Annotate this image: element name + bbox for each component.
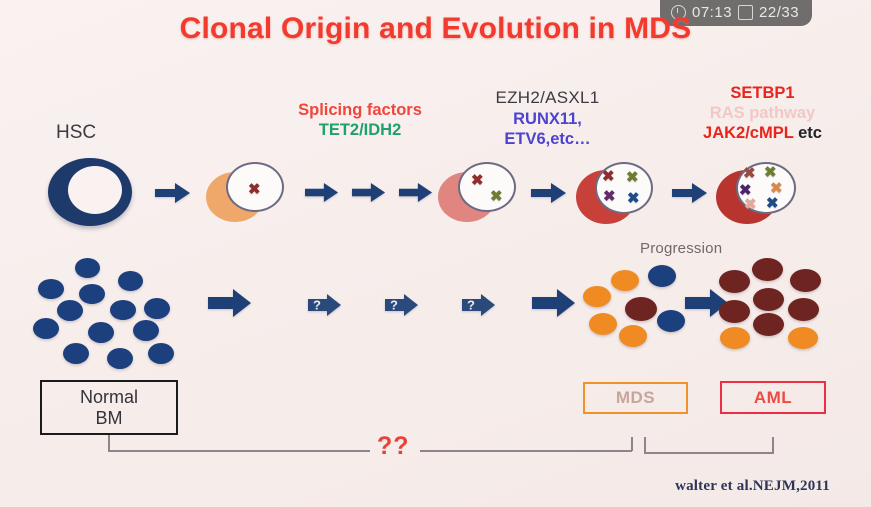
cell-dot (57, 300, 83, 321)
label-group-setbp1: SETBP1 RAS pathway JAK2/cMPL etc (660, 83, 865, 143)
mutation-mark: ✖ (490, 189, 503, 204)
cell-dot (611, 270, 639, 291)
cell-dot (788, 327, 818, 349)
cell-dot (720, 327, 750, 349)
slide-canvas: 07:13 22/33 Clonal Origin and Evolution … (0, 0, 871, 507)
cell-dot (75, 258, 100, 278)
label-jak2-line: JAK2/cMPL etc (660, 123, 865, 143)
label-splicing-factors: Splicing factors (265, 100, 455, 120)
cell-dot (589, 313, 617, 335)
question-annotation: ?? (377, 432, 410, 461)
label-group-splicing: Splicing factors TET2/IDH2 (265, 100, 455, 140)
box-mds[interactable]: MDS (583, 382, 688, 414)
progression-label: Progression (640, 240, 722, 257)
bracket-line-right (420, 450, 632, 452)
cell-dot (133, 320, 159, 341)
cell-dot (88, 322, 114, 343)
arrow-bottom-1 (208, 288, 252, 318)
arrow-bottom-to-mds (532, 288, 576, 318)
cell-dot (79, 284, 105, 304)
arrow-bottom-q1: ? (308, 293, 342, 317)
cell-dot (790, 269, 821, 292)
cell-dot (788, 298, 819, 321)
mutation-mark: ✖ (603, 189, 616, 204)
cell-dot (657, 310, 685, 332)
label-runx11: RUNX11, (455, 109, 640, 129)
mutation-mark: ✖ (602, 169, 615, 184)
label-setbp1: SETBP1 (660, 83, 865, 103)
cell-dot (144, 298, 170, 319)
label-group-ezh2: EZH2/ASXL1 RUNX11, ETV6,etc… (455, 88, 640, 149)
bracket-aml-left-tick (644, 437, 646, 453)
label-ezh2-asxl1: EZH2/ASXL1 (455, 88, 640, 109)
hsc-nucleus-hole (68, 166, 122, 214)
cell-stage-3: ✖ ✖ (440, 158, 520, 224)
label-tet2-idh2: TET2/IDH2 (265, 120, 455, 140)
cell-dot (63, 343, 89, 364)
arrow-stage4-to-5 (672, 182, 708, 204)
bracket-line-left (108, 450, 370, 452)
label-ras-pathway: RAS pathway (660, 103, 865, 123)
mutation-mark: ✖ (743, 166, 756, 181)
citation: walter et al.NEJM,2011 (0, 478, 830, 495)
label-etv6: ETV6,etc… (455, 129, 640, 149)
bracket-aml-line (644, 452, 774, 454)
cell-dot (648, 265, 676, 287)
cell-dot (583, 286, 611, 307)
mutation-mark: ✖ (471, 173, 484, 188)
arrow-hsc-to-cell2 (155, 182, 191, 204)
mutation-mark: ✖ (764, 165, 777, 180)
cell-dot (619, 325, 647, 347)
arrow-question-mark: ? (467, 298, 475, 313)
box-normal-bm[interactable]: Normal BM (40, 380, 178, 435)
box-aml[interactable]: AML (720, 381, 826, 414)
label-etc: etc (798, 124, 822, 142)
hsc-label: HSC (56, 122, 96, 144)
bracket-tick-normal (108, 435, 110, 451)
arrow-bottom-q2: ? (385, 293, 419, 317)
cell-dot (719, 270, 750, 293)
mutation-mark: ✖ (766, 196, 779, 211)
mutation-mark: ✖ (248, 182, 261, 197)
mutation-mark: ✖ (770, 181, 783, 196)
cell-dot (719, 300, 750, 323)
mutation-mark: ✖ (744, 197, 757, 212)
bracket-aml-right-tick (772, 437, 774, 453)
cell-dot (625, 297, 657, 321)
page-title: Clonal Origin and Evolution in MDS (0, 12, 871, 46)
arrow-question-mark: ? (313, 298, 321, 313)
cell-dot (148, 343, 174, 364)
cell-stage-5: ✖ ✖ ✖ ✖ ✖ ✖ (718, 158, 802, 226)
arrow-stage3-to-4 (531, 182, 567, 204)
arrow-stage2-b (352, 182, 386, 203)
mutation-mark: ✖ (626, 170, 639, 185)
cell-stage-4: ✖ ✖ ✖ ✖ (578, 158, 658, 226)
arrow-stage2-a (305, 182, 339, 203)
cell-dot (110, 300, 136, 320)
arrow-stage2-c (399, 182, 433, 203)
cell-dot (33, 318, 59, 339)
bracket-tick-mds (631, 437, 633, 451)
arrow-question-mark: ? (390, 298, 398, 313)
cell-dot (107, 348, 133, 369)
box-normal-bm-text: Normal BM (80, 387, 138, 428)
arrow-bottom-q3: ? (462, 293, 496, 317)
cell-dot (118, 271, 143, 291)
label-jak2-cmpl: JAK2/cMPL (703, 124, 793, 142)
cell-dot (753, 288, 784, 311)
mutation-mark: ✖ (627, 191, 640, 206)
cell-hsc (48, 158, 132, 226)
cell3-nucleus (458, 162, 516, 212)
cell-stage-2: ✖ (208, 158, 288, 224)
cell-dot (753, 313, 784, 336)
